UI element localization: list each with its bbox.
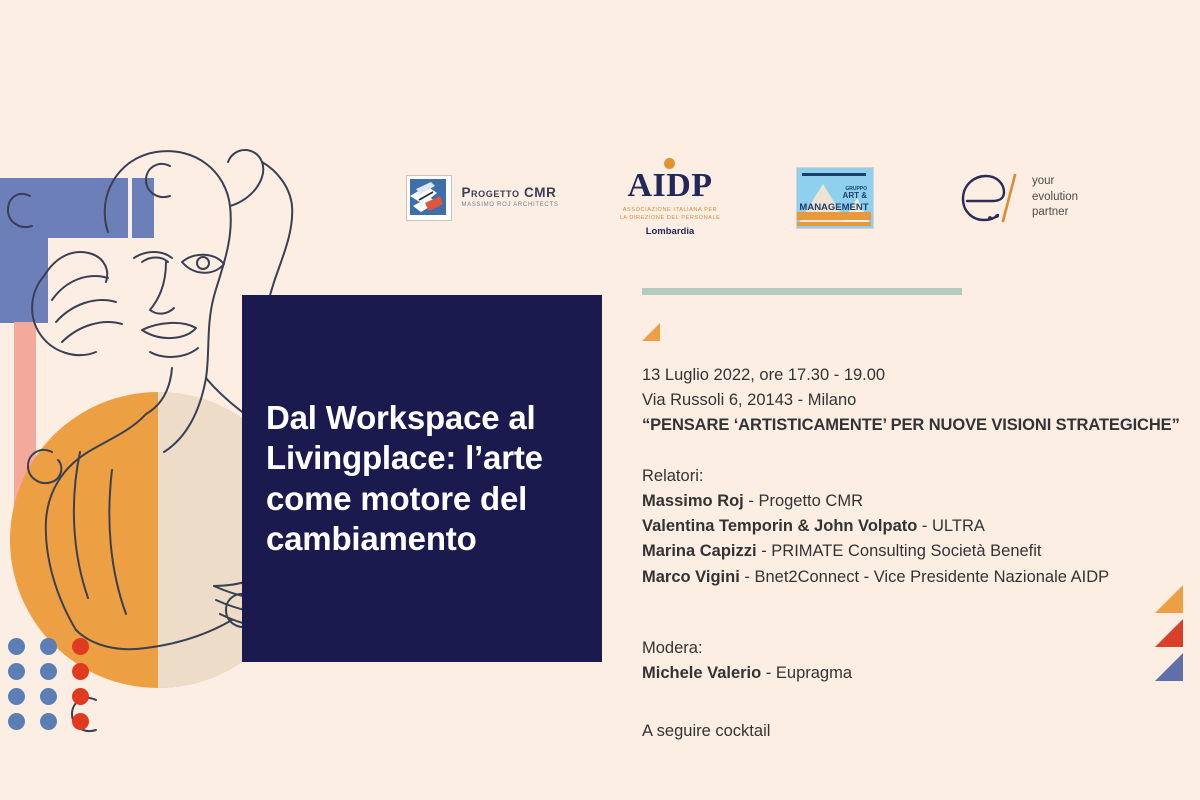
moderation-section: Modera: Michele Valerio - Eupragma xyxy=(642,636,1190,686)
speaker-affiliation: - Progetto CMR xyxy=(744,492,863,510)
triangle-blue-icon xyxy=(1155,653,1183,681)
dot-grid xyxy=(8,638,104,738)
speaker-affiliation: - Bnet2Connect - Vice Presidente Naziona… xyxy=(740,568,1109,586)
dot xyxy=(8,688,25,705)
event-datetime: 13 Luglio 2022, ore 17.30 - 19.00 xyxy=(642,363,1190,388)
partner-logo-strip: Progetto CMR MASSIMO ROJ ARCHITECTS AIDP… xyxy=(380,150,1180,245)
logo-gruppo-art-management: GRUPPO ART & MANAGEMENT xyxy=(755,150,915,245)
speaker-name: Valentina Temporin & John Volpato xyxy=(642,517,917,535)
svg-text:ART &: ART & xyxy=(843,191,868,200)
dot xyxy=(8,713,25,730)
speaker-row: Marina Capizzi - PRIMATE Consulting Soci… xyxy=(642,539,1190,564)
evolution-line3: partner xyxy=(1032,205,1078,221)
dot xyxy=(72,713,89,730)
speaker-affiliation: - ULTRA xyxy=(917,517,985,535)
blue-bar-group xyxy=(0,178,154,323)
moderator-name: Michele Valerio xyxy=(642,664,761,682)
svg-text:MANAGEMENT: MANAGEMENT xyxy=(799,202,868,213)
event-details: 13 Luglio 2022, ore 17.30 - 19.00 Via Ru… xyxy=(642,288,1190,741)
moderation-label: Modera: xyxy=(642,636,1190,661)
dot xyxy=(8,638,25,655)
speakers-label: Relatori: xyxy=(642,464,1190,489)
evolution-line2: evolution xyxy=(1032,190,1078,206)
moderator-affiliation: - Eupragma xyxy=(761,664,852,682)
speaker-row: Valentina Temporin & John Volpato - ULTR… xyxy=(642,514,1190,539)
speaker-name: Massimo Roj xyxy=(642,492,744,510)
sage-divider xyxy=(642,288,962,295)
dot xyxy=(8,663,25,680)
speaker-name: Marina Capizzi xyxy=(642,542,757,560)
triangle-orange-icon xyxy=(1155,585,1183,613)
event-address: Via Russoli 6, 20143 - Milano xyxy=(642,388,1190,413)
triangle-red-icon xyxy=(1155,619,1183,647)
dot xyxy=(40,663,57,680)
progetto-cmr-mark-icon xyxy=(406,175,452,221)
logo-progetto-cmr: Progetto CMR MASSIMO ROJ ARCHITECTS xyxy=(380,150,585,245)
aidp-tagline-line2: LA DIREZIONE DEL PERSONALE xyxy=(620,214,721,222)
orange-triangle-accent-icon xyxy=(642,323,660,341)
speaker-name: Marco Vigini xyxy=(642,568,740,586)
dot xyxy=(72,688,89,705)
dot xyxy=(72,638,89,655)
speaker-row: Massimo Roj - Progetto CMR xyxy=(642,489,1190,514)
dot xyxy=(40,688,57,705)
progetto-cmr-subtitle: MASSIMO ROJ ARCHITECTS xyxy=(461,202,558,208)
logo-evolution-partner: your evolution partner xyxy=(915,150,1120,245)
title-card: Dal Workspace al Livingplace: l’arte com… xyxy=(242,295,602,662)
moderator-row: Michele Valerio - Eupragma xyxy=(642,661,1190,686)
aidp-tagline-line1: ASSOCIAZIONE ITALIANA PER xyxy=(620,206,721,214)
speaker-row: Marco Vigini - Bnet2Connect - Vice Presi… xyxy=(642,565,1190,590)
progetto-cmr-title: Progetto CMR xyxy=(461,186,558,200)
evolution-e-mark-icon xyxy=(957,169,1021,227)
evolution-line1: your xyxy=(1032,174,1078,190)
speaker-affiliation: - PRIMATE Consulting Società Benefit xyxy=(757,542,1042,560)
edge-triangle-stack xyxy=(1155,585,1183,681)
aidp-wordmark: AIDP xyxy=(620,170,721,202)
logo-aidp: AIDP ASSOCIAZIONE ITALIANA PER LA DIREZI… xyxy=(585,150,755,245)
speakers-section: Relatori: Massimo Roj - Progetto CMR Val… xyxy=(642,464,1190,589)
gruppo-art-management-mark-icon: GRUPPO ART & MANAGEMENT xyxy=(796,167,874,229)
page-title: Dal Workspace al Livingplace: l’arte com… xyxy=(242,398,602,559)
aidp-region: Lombardia xyxy=(620,227,721,237)
dot xyxy=(40,713,57,730)
event-poster: Progetto CMR MASSIMO ROJ ARCHITECTS AIDP… xyxy=(0,0,1200,800)
event-theme: “PENSARE ‘ARTISTICAMENTE’ PER NUOVE VISI… xyxy=(642,413,1190,438)
dot xyxy=(72,663,89,680)
dot xyxy=(40,638,57,655)
closing-note: A seguire cocktail xyxy=(642,722,1190,741)
event-meta: 13 Luglio 2022, ore 17.30 - 19.00 Via Ru… xyxy=(642,363,1190,438)
